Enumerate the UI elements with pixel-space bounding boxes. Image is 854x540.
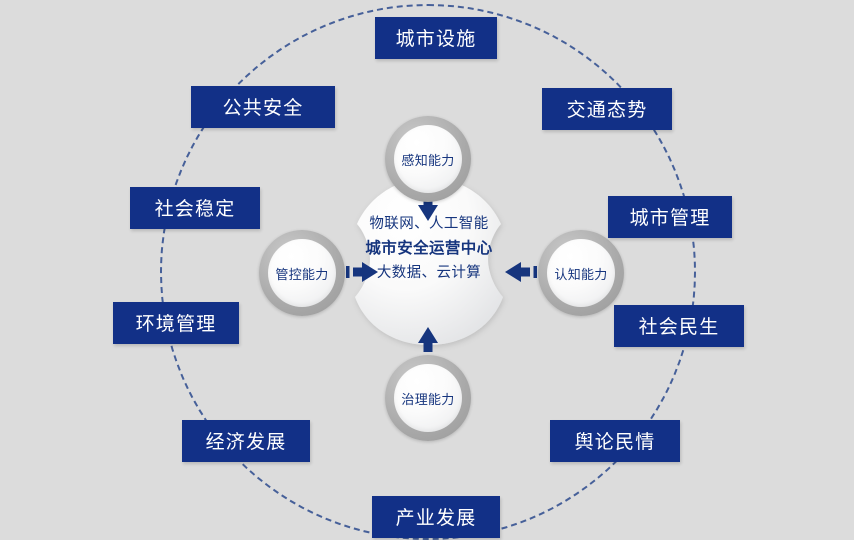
arrow-right-left-icon [503, 260, 543, 289]
label-industrial-development[interactable]: 产业发展 [372, 496, 500, 538]
node-control[interactable]: 管控能力 [259, 230, 345, 316]
arrow-left-right-icon [340, 260, 380, 289]
label-environment-management[interactable]: 环境管理 [113, 302, 239, 344]
label-city-management[interactable]: 城市管理 [608, 196, 732, 238]
node-perception[interactable]: 感知能力 [385, 116, 471, 202]
diagram-canvas: 物联网、人工智能 城市安全运营中心 大数据、云计算 [0, 0, 854, 537]
node-cognition-inner: 认知能力 [547, 239, 615, 307]
label-public-safety[interactable]: 公共安全 [191, 86, 335, 128]
node-governance-inner: 治理能力 [394, 364, 462, 432]
node-control-inner: 管控能力 [268, 239, 336, 307]
node-cognition[interactable]: 认知能力 [538, 230, 624, 316]
label-economic-development[interactable]: 经济发展 [182, 420, 310, 462]
label-traffic-situation[interactable]: 交通态势 [542, 88, 672, 130]
label-social-livelihood[interactable]: 社会民生 [614, 305, 744, 347]
node-governance[interactable]: 治理能力 [385, 355, 471, 441]
node-control-label: 管控能力 [275, 264, 328, 283]
node-governance-label: 治理能力 [401, 389, 454, 408]
label-social-stability[interactable]: 社会稳定 [130, 187, 260, 229]
label-city-facilities[interactable]: 城市设施 [375, 17, 497, 59]
label-public-opinion[interactable]: 舆论民情 [550, 420, 680, 462]
node-cognition-label: 认知能力 [554, 264, 607, 283]
node-perception-inner: 感知能力 [394, 125, 462, 193]
node-perception-label: 感知能力 [401, 150, 454, 169]
